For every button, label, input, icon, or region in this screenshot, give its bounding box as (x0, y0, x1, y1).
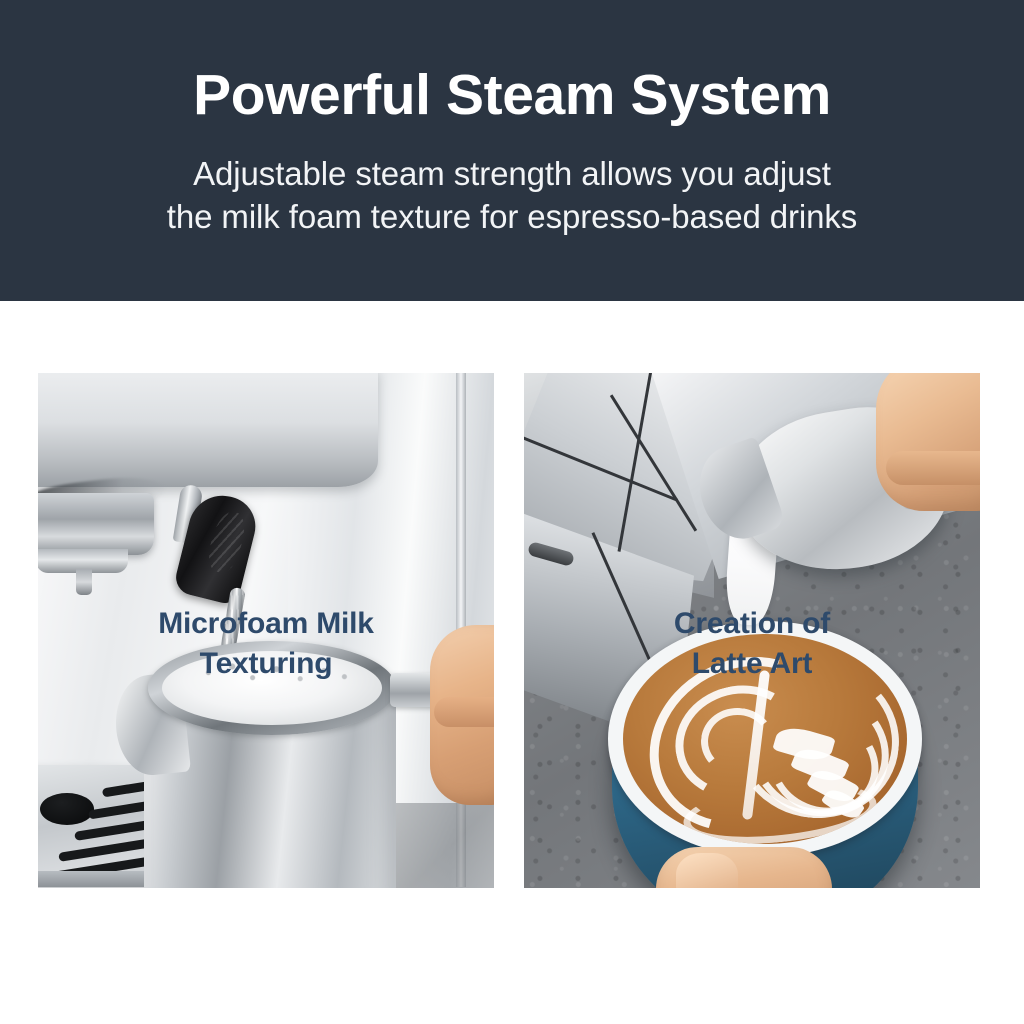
caption-creation-of-latte-art: Creation of Latte Art (524, 604, 980, 684)
barista-hand-holding-cup (656, 847, 832, 888)
page-subtitle: Adjustable steam strength allows you adj… (167, 152, 857, 239)
caption-line-1: Creation of (524, 604, 980, 644)
group-head (38, 493, 154, 555)
caption-line-2: Latte Art (524, 644, 980, 684)
caption-line-2: Texturing (38, 644, 494, 684)
subtitle-line-1: Adjustable steam strength allows you adj… (167, 152, 857, 196)
drip-tray-drain-hole (40, 793, 94, 825)
header-banner: Powerful Steam System Adjustable steam s… (0, 0, 1024, 301)
page-title: Powerful Steam System (193, 66, 831, 126)
product-feature-graphic: Powerful Steam System Adjustable steam s… (0, 0, 1024, 1024)
caption-microfoam-milk-texturing: Microfoam Milk Texturing (38, 604, 494, 684)
subtitle-line-2: the milk foam texture for espresso-based… (167, 195, 857, 239)
espresso-machine-top-housing (38, 373, 378, 487)
caption-line-1: Microfoam Milk (38, 604, 494, 644)
barista-hand-pouring (876, 373, 980, 511)
portafilter-spout (76, 569, 92, 595)
